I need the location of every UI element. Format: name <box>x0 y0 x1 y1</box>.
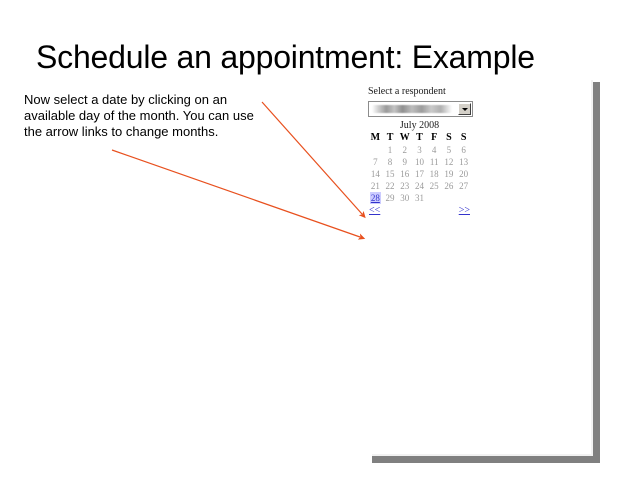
calendar-day-cell-selected[interactable]: 28 <box>368 192 383 204</box>
calendar-day-cell: 25 <box>427 180 442 192</box>
calendar-day-cell: 31 <box>412 192 427 204</box>
calendar-day-cell: 30 <box>397 192 412 204</box>
respondent-calendar-widget: Select a respondent July 2008 M T W T F … <box>368 86 488 219</box>
calendar-day-cell <box>442 192 457 204</box>
calendar-day-cell: 12 <box>442 156 457 168</box>
calendar-grid: M T W T F S S 1 2 3 4 5 6 <box>368 132 471 204</box>
respondent-selected-value <box>372 105 452 113</box>
calendar-day-link[interactable]: 28 <box>370 192 381 204</box>
calendar-day-cell: 24 <box>412 180 427 192</box>
calendar-week-row: 21 22 23 24 25 26 27 <box>368 180 471 192</box>
calendar-day-cell <box>368 144 383 156</box>
calendar-day-cell: 1 <box>383 144 398 156</box>
calendar-day-cell: 15 <box>383 168 398 180</box>
calendar-day-cell: 17 <box>412 168 427 180</box>
calendar-day-cell: 26 <box>442 180 457 192</box>
panel-drop-shadow-bottom <box>372 456 600 463</box>
respondent-label: Select a respondent <box>368 86 488 97</box>
weekday-header: S <box>456 132 471 144</box>
next-month-link[interactable]: >> <box>459 205 470 216</box>
calendar-week-row: 7 8 9 10 11 12 13 <box>368 156 471 168</box>
respondent-select[interactable] <box>368 101 473 117</box>
annotation-arrow-to-selected-day <box>262 102 362 214</box>
calendar-day-cell: 21 <box>368 180 383 192</box>
weekday-header: T <box>412 132 427 144</box>
slide-canvas: Schedule an appointment: Example Now sel… <box>0 0 640 480</box>
weekday-header: T <box>383 132 398 144</box>
calendar-day-cell: 7 <box>368 156 383 168</box>
calendar-day-cell <box>456 192 471 204</box>
calendar-week-row: 28 29 30 31 <box>368 192 471 204</box>
calendar-day-cell: 20 <box>456 168 471 180</box>
calendar-day-cell: 29 <box>383 192 398 204</box>
weekday-header: W <box>397 132 412 144</box>
calendar-day-cell: 4 <box>427 144 442 156</box>
weekday-header: M <box>368 132 383 144</box>
calendar-day-cell: 5 <box>442 144 457 156</box>
page-title: Schedule an appointment: Example <box>36 38 535 76</box>
calendar-day-cell: 8 <box>383 156 398 168</box>
annotation-arrow-to-prev-month-link <box>112 150 360 237</box>
calendar-day-cell: 9 <box>397 156 412 168</box>
calendar-day-cell <box>427 192 442 204</box>
calendar-day-cell: 23 <box>397 180 412 192</box>
calendar-day-cell: 27 <box>456 180 471 192</box>
weekday-header: F <box>427 132 442 144</box>
calendar-day-cell: 16 <box>397 168 412 180</box>
calendar-weekday-row: M T W T F S S <box>368 132 471 144</box>
calendar-week-row: 1 2 3 4 5 6 <box>368 144 471 156</box>
calendar-month-title: July 2008 <box>368 120 471 131</box>
calendar-day-cell: 14 <box>368 168 383 180</box>
calendar-day-cell: 13 <box>456 156 471 168</box>
prev-month-link[interactable]: << <box>369 205 380 216</box>
panel-drop-shadow-right <box>593 82 600 463</box>
calendar-day-cell: 6 <box>456 144 471 156</box>
weekday-header: S <box>442 132 457 144</box>
calendar-day-cell: 3 <box>412 144 427 156</box>
chevron-down-icon[interactable] <box>458 103 471 115</box>
calendar-day-cell: 10 <box>412 156 427 168</box>
calendar-day-cell: 22 <box>383 180 398 192</box>
calendar-day-cell: 19 <box>442 168 457 180</box>
instruction-text: Now select a date by clicking on an avai… <box>24 92 269 140</box>
calendar-week-row: 14 15 16 17 18 19 20 <box>368 168 471 180</box>
calendar-day-cell: 2 <box>397 144 412 156</box>
calendar-day-cell: 18 <box>427 168 442 180</box>
calendar-nav-row: << >> <box>368 205 471 219</box>
calendar-day-cell: 11 <box>427 156 442 168</box>
